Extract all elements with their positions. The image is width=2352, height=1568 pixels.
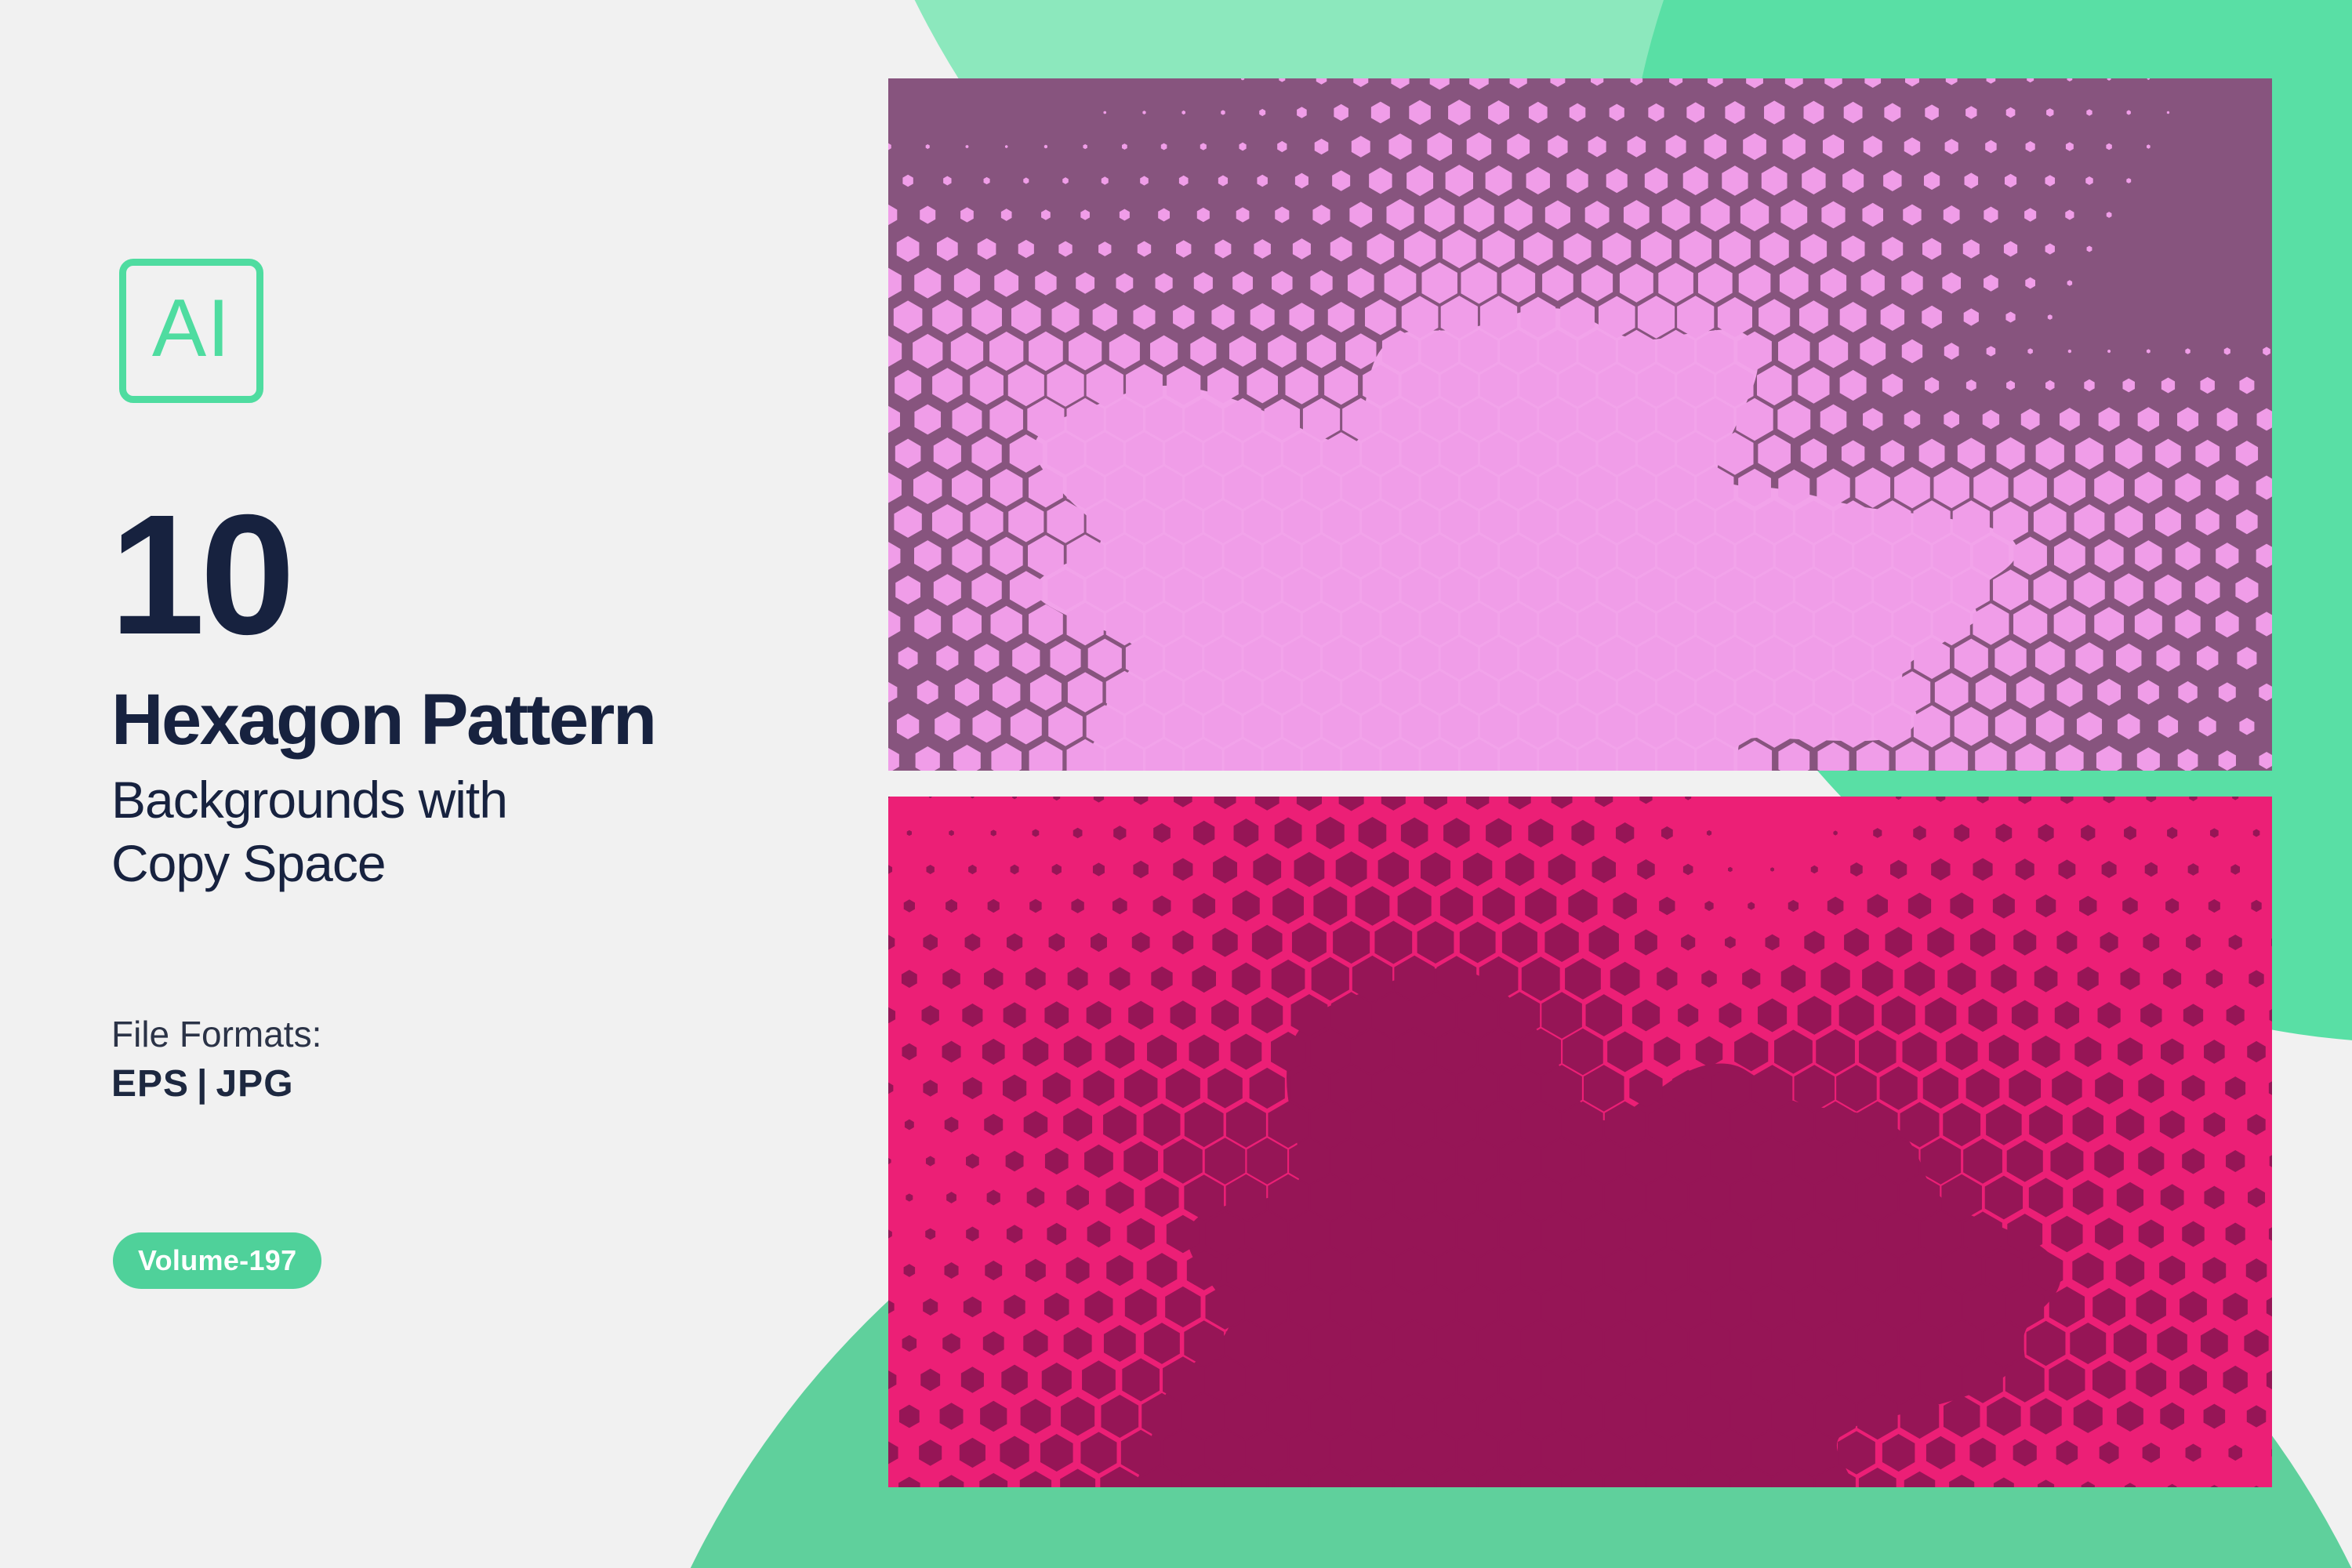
format-separator: | [189, 1063, 216, 1105]
ai-badge-label: AI [152, 288, 230, 369]
volume-badge-label: Volume-197 [138, 1244, 296, 1277]
hexagon-halftone-graphic-bottom [888, 797, 2272, 1487]
preview-panel-top[interactable] [888, 78, 2272, 771]
info-column: AI 10 Hexagon Pattern Backgrounds with C… [0, 0, 888, 1568]
page-subtitle: Backgrounds with Copy Space [111, 768, 507, 895]
volume-badge: Volume-197 [113, 1232, 321, 1289]
preview-panel-bottom[interactable] [888, 797, 2272, 1487]
hexagon-halftone-graphic-top [888, 78, 2272, 771]
page-subtitle-line-2: Copy Space [111, 832, 507, 895]
illustrator-file-icon: AI [119, 259, 263, 403]
file-formats-label: File Formats: [111, 1013, 321, 1055]
page-subtitle-line-1: Backgrounds with [111, 768, 507, 832]
format-jpg: JPG [216, 1063, 293, 1105]
format-eps: EPS [111, 1063, 189, 1105]
page-title: Hexagon Pattern [111, 684, 655, 756]
item-count: 10 [110, 490, 290, 661]
file-formats-value: EPS|JPG [111, 1062, 294, 1105]
